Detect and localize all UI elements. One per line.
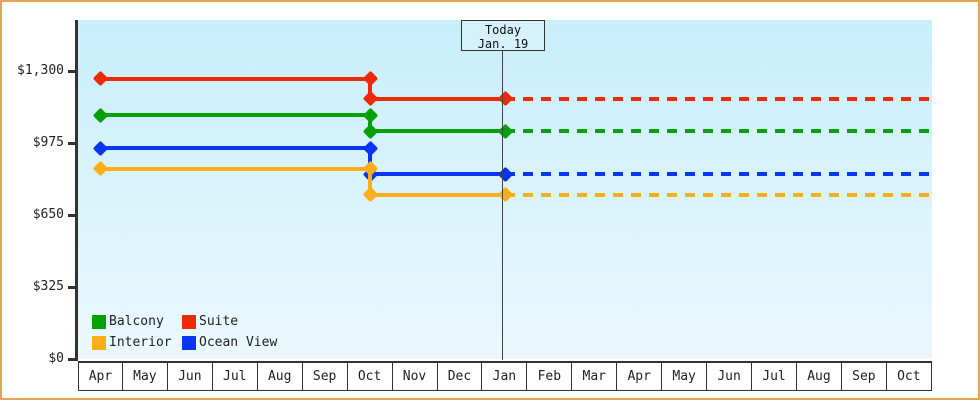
- x-axis-month-cell[interactable]: Aug: [258, 363, 303, 391]
- x-axis-month-cell[interactable]: Oct: [887, 363, 932, 391]
- series-line-balcony: [100, 113, 372, 117]
- chart-page: $0$325$650$975$1,300 Today Jan. 19 Balco…: [0, 0, 980, 400]
- x-axis-month-cell[interactable]: Oct: [348, 363, 393, 391]
- series-forecast-ocean-view: [505, 172, 932, 176]
- legend-row: Balcony Suite: [92, 311, 277, 332]
- y-axis-tick: [68, 214, 76, 217]
- y-axis-tick-label: $650: [33, 208, 64, 221]
- x-axis-month-cell[interactable]: Jan: [482, 363, 527, 391]
- y-axis-tick: [68, 142, 76, 145]
- x-axis-month-cell[interactable]: Jun: [168, 363, 213, 391]
- legend-swatch-icon: [182, 336, 196, 350]
- legend-swatch-icon: [92, 315, 106, 329]
- x-axis-month-cell[interactable]: Jul: [213, 363, 258, 391]
- y-axis-tick-label: $0: [48, 352, 64, 365]
- x-axis-month-cell[interactable]: Mar: [572, 363, 617, 391]
- series-forecast-suite: [505, 97, 932, 101]
- y-axis-tick-label: $975: [33, 136, 64, 149]
- x-axis-month-cell[interactable]: Nov: [393, 363, 438, 391]
- chart-legend: Balcony Suite Interior Ocean View: [92, 311, 277, 353]
- legend-row: Interior Ocean View: [92, 332, 277, 353]
- legend-item-suite[interactable]: Suite: [182, 315, 238, 329]
- x-axis-month-cell[interactable]: Jul: [752, 363, 797, 391]
- series-forecast-interior: [505, 193, 932, 197]
- series-forecast-balcony: [505, 129, 932, 133]
- series-line-ocean-view: [368, 172, 505, 176]
- legend-item-balcony[interactable]: Balcony: [92, 315, 182, 329]
- legend-swatch-icon: [182, 315, 196, 329]
- series-line-interior: [368, 193, 505, 197]
- y-axis-tick-label: $325: [33, 280, 64, 293]
- x-axis-month-cell[interactable]: May: [123, 363, 168, 391]
- series-line-suite: [368, 97, 505, 101]
- x-axis-month-cell[interactable]: Apr: [617, 363, 662, 391]
- legend-swatch-icon: [92, 336, 106, 350]
- today-date: Jan. 19: [462, 37, 544, 51]
- x-axis-month-cell[interactable]: Dec: [438, 363, 483, 391]
- y-axis-tick: [68, 286, 76, 289]
- series-line-interior: [100, 167, 372, 171]
- today-label: Today: [462, 23, 544, 37]
- today-marker-line: [502, 50, 503, 360]
- x-axis-month-cell[interactable]: Sep: [842, 363, 887, 391]
- legend-item-ocean-view[interactable]: Ocean View: [182, 336, 277, 350]
- legend-label: Interior: [109, 336, 172, 350]
- y-axis-tick: [68, 70, 76, 73]
- legend-label: Balcony: [109, 315, 164, 329]
- x-axis-month-cell[interactable]: Aug: [797, 363, 842, 391]
- legend-item-interior[interactable]: Interior: [92, 336, 182, 350]
- series-line-suite: [100, 77, 372, 81]
- y-axis-tick: [68, 358, 76, 361]
- x-axis-month-cell[interactable]: Apr: [78, 363, 123, 391]
- today-annotation-box: Today Jan. 19: [461, 20, 545, 51]
- x-axis-month-cell[interactable]: Jun: [707, 363, 752, 391]
- legend-label: Suite: [199, 315, 238, 329]
- x-axis-month-cell[interactable]: May: [662, 363, 707, 391]
- series-line-balcony: [368, 129, 505, 133]
- x-axis-month-cell[interactable]: Feb: [527, 363, 572, 391]
- series-line-ocean-view: [100, 146, 372, 150]
- x-axis-month-cell[interactable]: Sep: [303, 363, 348, 391]
- y-axis-tick-label: $1,300: [17, 64, 64, 77]
- x-axis-month-labels: AprMayJunJulAugSepOctNovDecJanFebMarAprM…: [78, 361, 932, 389]
- legend-label: Ocean View: [199, 336, 277, 350]
